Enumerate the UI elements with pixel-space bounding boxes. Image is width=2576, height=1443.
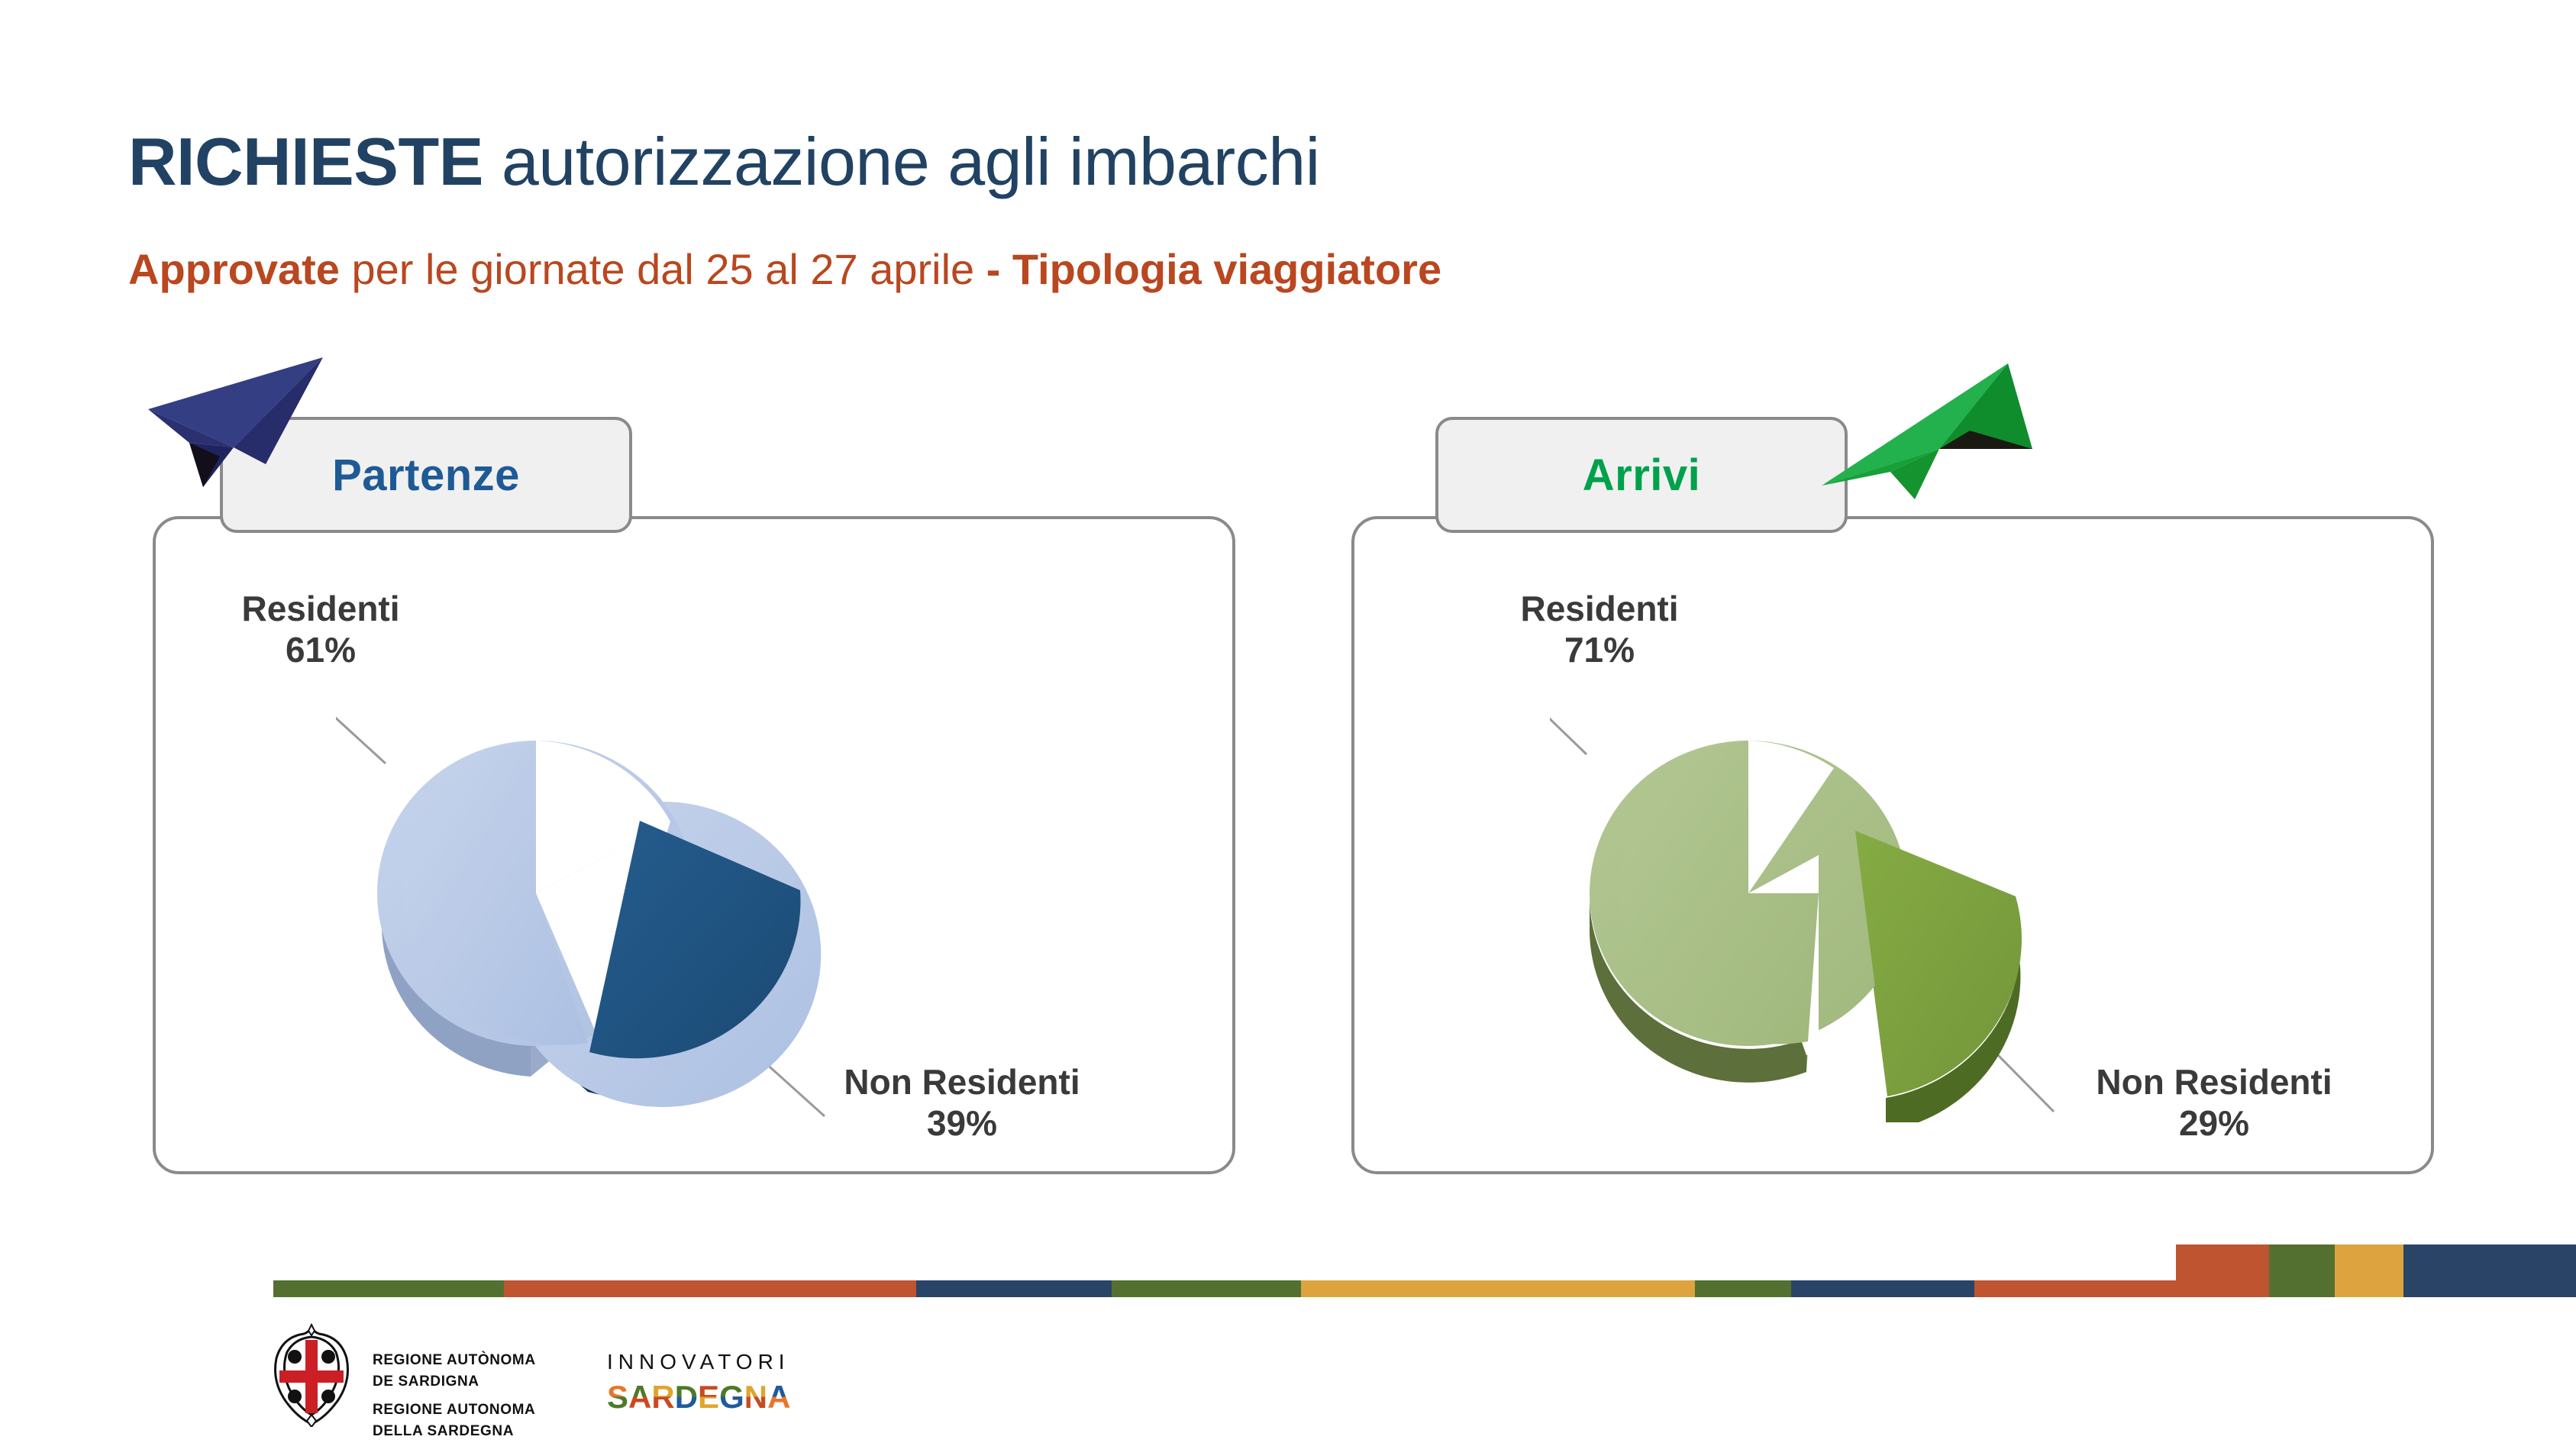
strip-segment-10 <box>2335 1244 2403 1297</box>
page-subtitle: Approvate per le giornate dal 25 al 27 a… <box>128 248 1441 291</box>
sardegna-letter-5: G <box>719 1379 744 1415</box>
pie-label-residenti-right-name: Residenti <box>1520 589 1678 628</box>
strip-segment-5 <box>1695 1280 1791 1297</box>
strip-segment-0 <box>273 1280 504 1297</box>
pie-chart-arrivi <box>1550 664 2115 1122</box>
sardegna-letter-4: E <box>698 1379 719 1415</box>
page-title-light: autorizzazione agli imbarchi <box>483 124 1320 199</box>
sardegna-letter-7: A <box>767 1379 790 1415</box>
subtitle-bold-leading: Approvate <box>128 245 340 293</box>
strip-segment-4 <box>1301 1280 1695 1297</box>
page-title-strong: RICHIESTE <box>128 124 483 199</box>
sardegna-letter-6: N <box>744 1379 767 1415</box>
regione-line-4: DELLA SARDEGNA <box>373 1421 536 1442</box>
regione-line-3: REGIONE AUTONOMA <box>373 1399 536 1421</box>
regione-line-2: DE SARDIGNA <box>373 1371 536 1393</box>
strip-segment-7 <box>1974 1280 2176 1297</box>
pie-chart-partenze <box>336 664 901 1122</box>
strip-segment-9 <box>2269 1244 2335 1297</box>
sardegna-letter-1: A <box>628 1379 651 1415</box>
strip-segment-3 <box>1112 1280 1301 1297</box>
sardegna-letter-2: R <box>651 1379 674 1415</box>
sardegna-word: SARDEGNA <box>607 1379 874 1416</box>
tab-partenze-label: Partenze <box>332 450 520 501</box>
strip-segment-6 <box>1791 1280 1974 1297</box>
sardegna-letter-3: D <box>675 1379 698 1415</box>
innovatori-word: INNOVATORI <box>607 1351 874 1373</box>
pie-label-non-residenti-right-name: Non Residenti <box>2096 1062 2332 1102</box>
pie-label-residenti-left: Residenti 61% <box>221 588 420 671</box>
tab-arrivi-label: Arrivi <box>1583 450 1701 501</box>
strip-segment-11 <box>2403 1244 2576 1297</box>
subtitle-normal: per le giornate dal 25 al 27 aprile <box>340 245 986 293</box>
subtitle-bold-trailing: - Tipologia viaggiatore <box>986 245 1441 293</box>
pie-label-residenti-left-name: Residenti <box>241 589 399 628</box>
regione-line-1: REGIONE AUTÒNOMA <box>373 1350 536 1371</box>
innovatori-sardegna-logo: INNOVATORI SARDEGNA <box>607 1351 874 1428</box>
strip-segment-2 <box>916 1280 1112 1297</box>
regione-autonoma-wordmark: REGIONE AUTÒNOMA DE SARDIGNA REGIONE AUT… <box>373 1350 536 1441</box>
strip-segment-1 <box>504 1280 916 1297</box>
sardegna-letter-0: S <box>607 1379 628 1415</box>
sardinia-four-moors-crest-icon <box>260 1323 363 1427</box>
strip-segment-8 <box>2176 1244 2269 1297</box>
tab-partenze[interactable]: Partenze <box>220 417 632 533</box>
paper-plane-icon-arrival <box>1817 357 2039 502</box>
pie-label-residenti-right: Residenti 71% <box>1493 588 1706 671</box>
page-title: RICHIESTE autorizzazione agli imbarchi <box>128 128 1320 195</box>
tab-arrivi[interactable]: Arrivi <box>1435 417 1848 533</box>
